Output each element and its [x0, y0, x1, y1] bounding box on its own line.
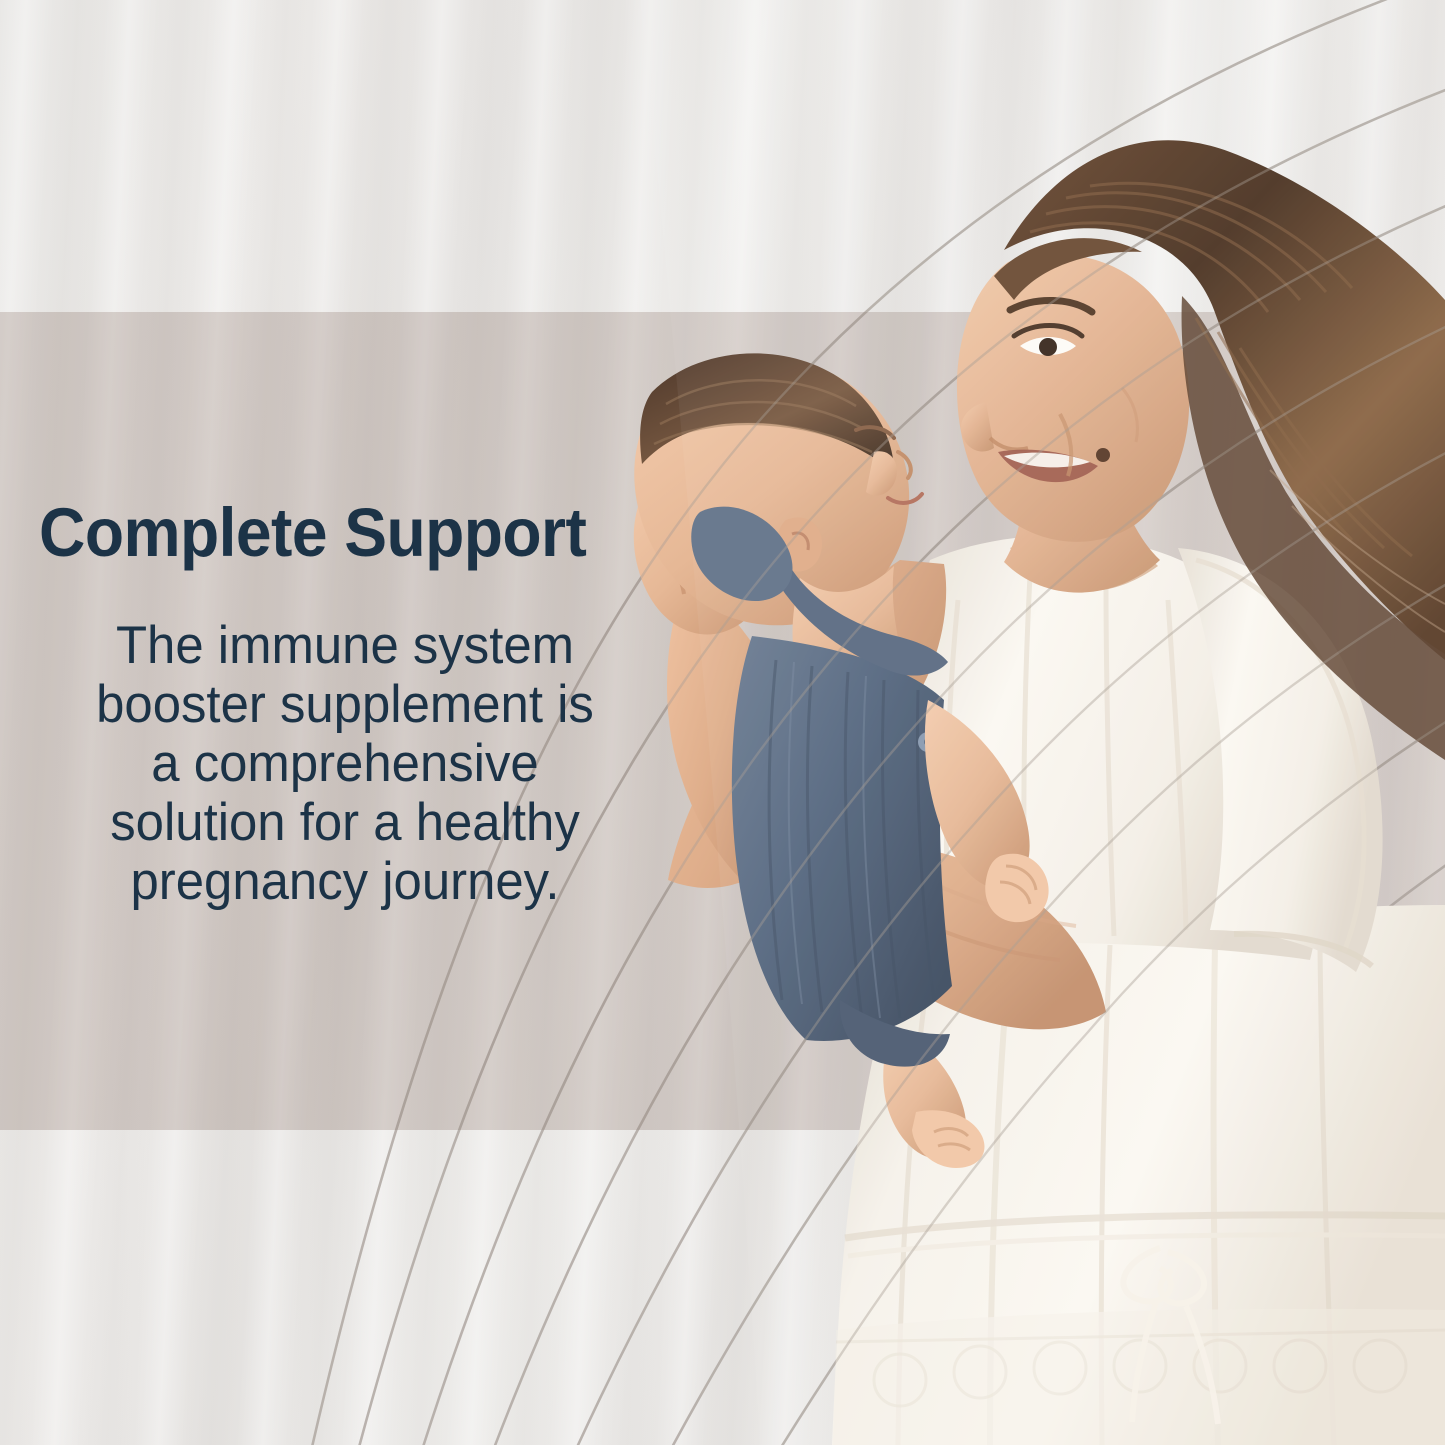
- page-title: Complete Support: [0, 498, 642, 567]
- body-copy-line: The immune system: [37, 616, 653, 675]
- copy-block: Complete Support The immune system boost…: [0, 498, 690, 911]
- body-copy: The immune system booster supplement is …: [14, 616, 676, 911]
- body-copy-line: a comprehensive: [37, 734, 653, 793]
- promotional-banner: Complete Support The immune system boost…: [0, 0, 1445, 1445]
- body-copy-line: booster supplement is: [37, 675, 653, 734]
- body-copy-line: solution for a healthy: [37, 793, 653, 852]
- body-copy-line: pregnancy journey.: [37, 852, 653, 911]
